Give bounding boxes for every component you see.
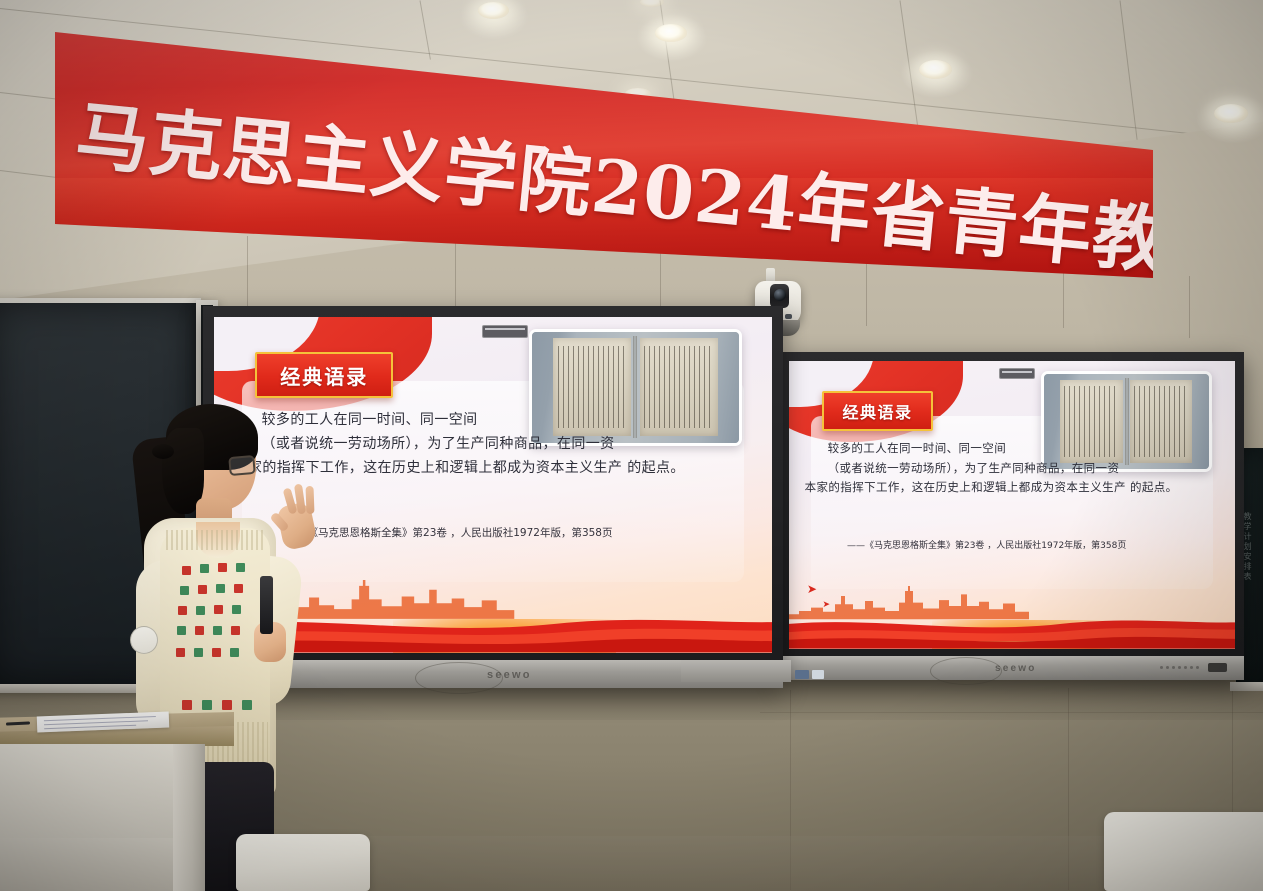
wall-panel-seam (1189, 276, 1190, 338)
right-interactive-flat-panel[interactable]: 经典语录 较多的工人在同一时间、同一空间 （或者说统一劳动场所），为了生产同种商… (780, 352, 1244, 680)
vest-pattern (182, 700, 192, 710)
display-status-badge (812, 670, 824, 679)
recessed-downlight (1214, 104, 1248, 123)
lectern-post (173, 744, 205, 891)
recessed-downlight (655, 24, 687, 42)
quote-line-1: 较多的工人在同一时间、同一空间 (805, 439, 1220, 459)
display-speaker (415, 662, 503, 694)
quote-line-2: （或者说统一劳动场所），为了生产同种商品，在同一资 (805, 459, 1220, 479)
screen-watermark-badge (999, 368, 1035, 379)
display-panel[interactable]: 经典语录 较多的工人在同一时间、同一空间 （或者说统一劳动场所），为了生产同种商… (789, 361, 1235, 649)
handheld-microphone (260, 576, 273, 634)
vest-pattern (176, 648, 185, 657)
side-blackboard-rail (1230, 682, 1263, 691)
vest-pattern (180, 586, 189, 595)
camera-indicator-led (785, 314, 792, 319)
quote-line-4: 的起点。 (627, 460, 685, 476)
photo-scene: 马克思主义学院2024年省青年教师基本功比赛磨课活动 教学计划安排表 经典语录 (0, 0, 1263, 891)
vest-pattern (194, 648, 203, 657)
camera-lens (774, 289, 786, 301)
display-control-buttons[interactable] (1160, 666, 1199, 669)
slide-source-citation: ——《马克思恩格斯全集》第23卷 ，人民出版社1972年版，第358页 (847, 538, 1126, 551)
display-bezel-bridge (681, 660, 791, 682)
hair-tie (152, 444, 174, 459)
vest-pattern (202, 700, 212, 710)
vest-pattern (198, 585, 207, 594)
slide-bottom-artwork (789, 551, 1235, 649)
vest-ribbed-collar (166, 530, 264, 550)
dove-icon: ➤ (822, 600, 830, 609)
slide-quote: 较多的工人在同一时间、同一空间 （或者说统一劳动场所），为了生产同种商品，在同一… (805, 439, 1220, 498)
vest-pattern (236, 563, 245, 572)
vest-pattern (200, 564, 209, 573)
slide-section-tag: 经典语录 (822, 391, 933, 431)
display-chin: seewo (780, 656, 1244, 680)
recessed-downlight (919, 60, 952, 79)
dove-icon: ➤ (807, 583, 817, 595)
vest-pattern (177, 626, 186, 635)
vest-pattern (231, 626, 240, 635)
screen-watermark-badge (482, 325, 528, 338)
vest-pattern (232, 605, 241, 614)
vest-pattern (234, 584, 243, 593)
slide-section-tag: 经典语录 (255, 352, 393, 398)
vest-pattern (213, 626, 222, 635)
vest-pattern (218, 563, 227, 572)
vest-pattern (230, 648, 239, 657)
eyeglasses (228, 455, 256, 476)
vest-pattern (182, 566, 191, 575)
vest-pattern (216, 584, 225, 593)
display-status-badge (795, 670, 809, 679)
vest-pattern (178, 606, 187, 615)
slide-canvas: 经典语录 较多的工人在同一时间、同一空间 （或者说统一劳动场所），为了生产同种商… (789, 361, 1235, 649)
stacking-chair (1104, 812, 1263, 891)
red-ribbon-wave-front (789, 631, 1235, 649)
finger (306, 486, 315, 514)
vest-pattern (212, 648, 221, 657)
display-speaker (930, 657, 1002, 685)
recessed-downlight (478, 2, 509, 19)
vest-pattern (242, 700, 252, 710)
stacking-chair (236, 834, 370, 891)
name-badge (130, 626, 158, 654)
vest-pattern (196, 606, 205, 615)
quote-line-4: 的起点。 (1130, 480, 1178, 494)
quote-line-3: 本家的指挥下工作，这在历史上和逻辑上都成为资本主义生产 (805, 480, 1126, 494)
vest-pattern (214, 605, 223, 614)
lectern-front-panel (0, 838, 174, 891)
handout-text-line (44, 725, 136, 730)
vest-pattern (222, 700, 232, 710)
vest-pattern (195, 626, 204, 635)
display-usb-port[interactable] (1208, 663, 1227, 672)
